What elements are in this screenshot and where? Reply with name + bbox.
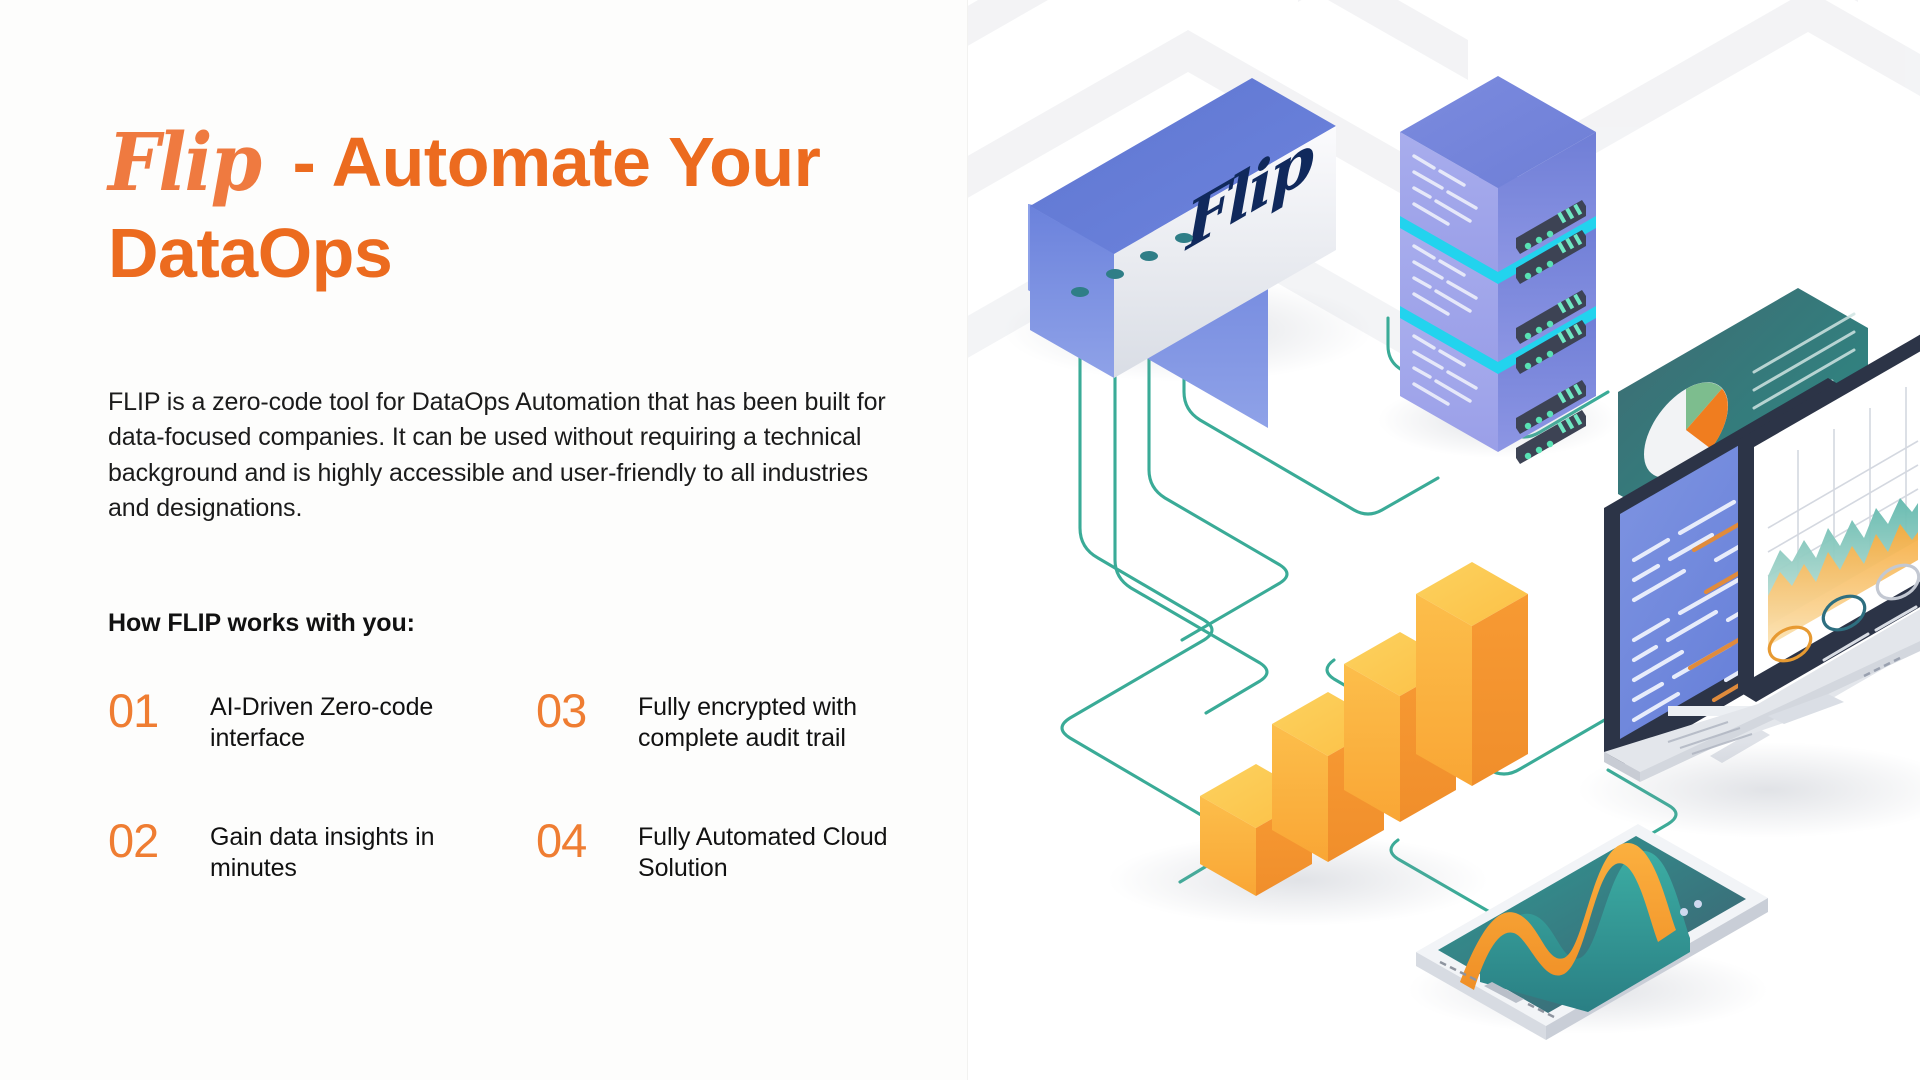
- feature-number: 02: [108, 816, 190, 865]
- feature-label: AI-Driven Zero-code interface: [210, 686, 528, 755]
- intro-paragraph: FLIP is a zero-code tool for DataOps Aut…: [108, 385, 908, 527]
- feature-number: 03: [536, 686, 618, 735]
- page-title: Flip - Automate Your DataOps: [108, 108, 868, 297]
- server-rack: [1378, 76, 1618, 464]
- feature-item-04: 04 Fully Automated Cloud Solution: [536, 816, 956, 946]
- feature-number: 04: [536, 816, 618, 865]
- isometric-illustration: Flip: [968, 0, 1920, 1080]
- bar-4: [1416, 562, 1528, 786]
- flip-logo-text: Flip: [108, 112, 260, 213]
- feature-label: Gain data insights in minutes: [210, 816, 528, 885]
- feature-item-01: 01 AI-Driven Zero-code interface: [108, 686, 528, 816]
- features-section-title: How FLIP works with you:: [108, 609, 967, 638]
- left-content-panel: Flip - Automate Your DataOps FLIP is a z…: [0, 0, 968, 1080]
- bar-chart-3d: [1108, 562, 1528, 926]
- feature-label: Fully encrypted with complete audit trai…: [638, 686, 956, 755]
- smartphone-wave-chart: [1408, 824, 1768, 1040]
- feature-item-03: 03 Fully encrypted with complete audit t…: [536, 686, 956, 816]
- features-grid: 01 AI-Driven Zero-code interface 03 Full…: [108, 686, 978, 946]
- slide-root: Flip - Automate Your DataOps FLIP is a z…: [0, 0, 1920, 1080]
- illustration-panel: Flip: [968, 0, 1920, 1080]
- feature-label: Fully Automated Cloud Solution: [638, 816, 956, 885]
- feature-number: 01: [108, 686, 190, 735]
- feature-item-02: 02 Gain data insights in minutes: [108, 816, 528, 946]
